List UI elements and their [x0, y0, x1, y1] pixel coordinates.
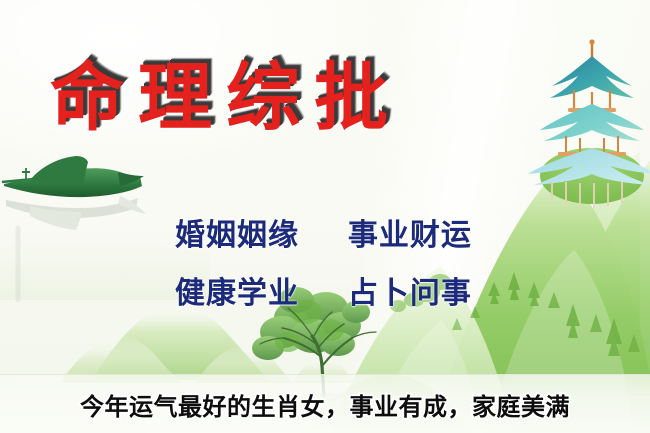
fortune-telling-poster: 命理综批 婚姻姻缘 事业财运 健康学业 占卜问事 今年运气最好的生肖女，事业有成… [0, 0, 650, 433]
service-line-2: 健康学业 占卜问事 [175, 268, 472, 312]
service-marriage: 婚姻姻缘 [175, 218, 299, 253]
page-title-text: 命理综批 [50, 55, 402, 141]
service-divination: 占卜问事 [348, 276, 472, 311]
page-title: 命理综批 [50, 50, 402, 146]
bottom-caption: 今年运气最好的生肖女，事业有成，家庭美满 [0, 387, 650, 422]
service-career: 事业财运 [348, 218, 472, 253]
service-health: 健康学业 [175, 276, 299, 311]
service-line-1: 婚姻姻缘 事业财运 [175, 210, 472, 254]
